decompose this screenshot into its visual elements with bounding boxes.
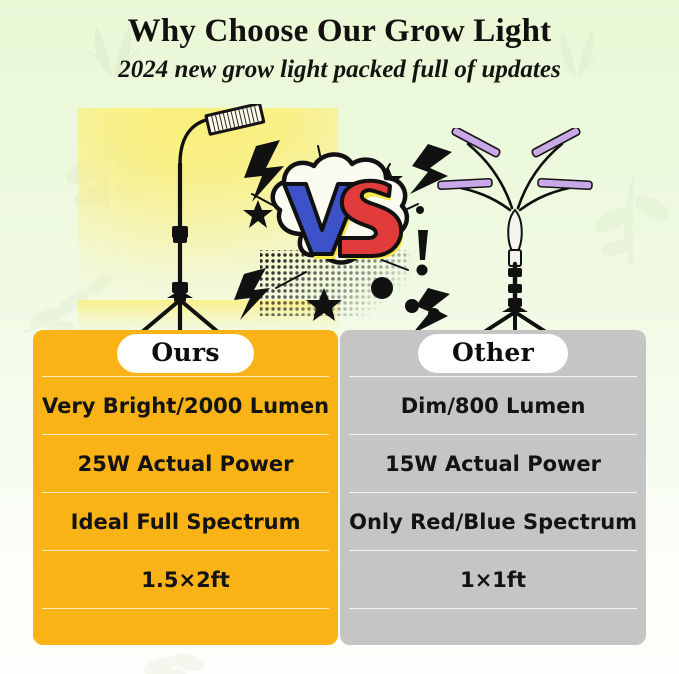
other-heading-wrap: Other	[340, 330, 646, 376]
leaf-watermark-bottom-left	[18, 262, 126, 340]
infographic-canvas: Why Choose Our Grow Light 2024 new grow …	[0, 0, 679, 674]
page-title: Why Choose Our Grow Light	[0, 12, 679, 50]
ours-heading-wrap: Ours	[33, 330, 338, 376]
table-row: Very Bright/2000 Lumen	[42, 376, 329, 434]
leaf-watermark-bottom-center	[140, 646, 212, 674]
other-panel: Other Dim/800 Lumen 15W Actual Power Onl…	[340, 330, 646, 645]
ours-rows: Very Bright/2000 Lumen 25W Actual Power …	[33, 376, 338, 645]
table-row: 1×1ft	[349, 550, 637, 608]
other-rows: Dim/800 Lumen 15W Actual Power Only Red/…	[340, 376, 646, 645]
versus-burst-graphic	[222, 138, 462, 343]
table-row: Ideal Full Spectrum	[42, 492, 329, 550]
ours-panel: Ours Very Bright/2000 Lumen 25W Actual P…	[33, 330, 338, 645]
table-row-spacer	[349, 608, 637, 645]
table-row-spacer	[42, 608, 329, 645]
ours-heading-pill: Ours	[117, 334, 253, 373]
table-row: 1.5×2ft	[42, 550, 329, 608]
comparison-table: Ours Very Bright/2000 Lumen 25W Actual P…	[33, 330, 646, 645]
table-row: 15W Actual Power	[349, 434, 637, 492]
table-row: 25W Actual Power	[42, 434, 329, 492]
table-row: Dim/800 Lumen	[349, 376, 637, 434]
page-subtitle: 2024 new grow light packed full of updat…	[0, 55, 679, 85]
other-heading-pill: Other	[418, 334, 568, 373]
table-row: Only Red/Blue Spectrum	[349, 492, 637, 550]
